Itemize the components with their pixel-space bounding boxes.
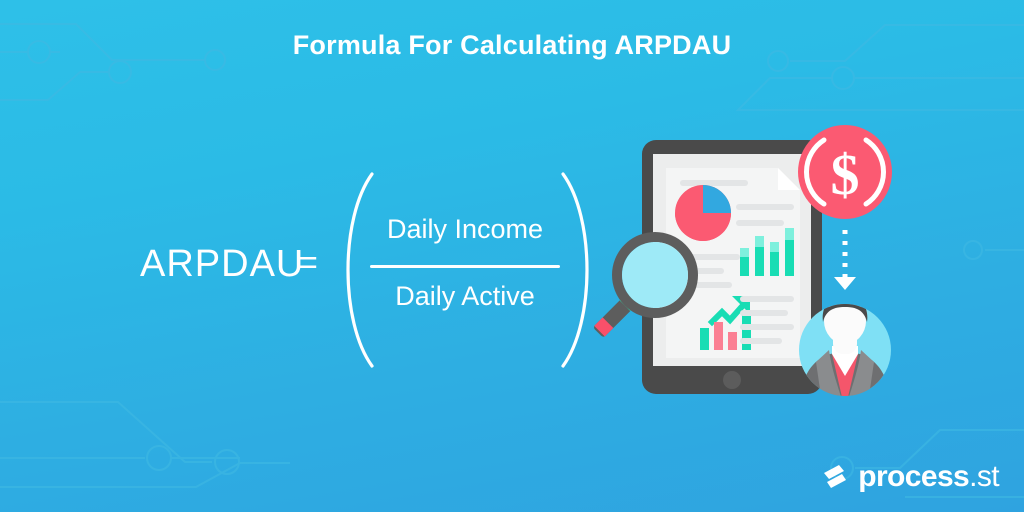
page-title: Formula For Calculating ARPDAU: [0, 30, 1024, 61]
dotted-arrow-icon: [834, 230, 856, 290]
formula-numerator: Daily Income: [360, 214, 570, 245]
pie-chart: [675, 185, 731, 241]
illustration-group: $: [560, 110, 920, 410]
brand-logo-text: process.st: [858, 460, 999, 494]
brand-suffix: .st: [969, 460, 999, 493]
left-parenthesis-icon: [332, 170, 378, 370]
process-st-mark-icon: [819, 462, 849, 492]
brand-name: process: [858, 460, 969, 493]
dollar-coin-icon: $: [798, 125, 892, 219]
brand-logo[interactable]: process.st: [819, 460, 999, 494]
formula-block: ARPDAU = Daily Income Daily Active: [120, 170, 610, 370]
formula-fraction-bar: [370, 265, 560, 268]
formula-denominator: Daily Active: [360, 281, 570, 312]
formula-left-term: ARPDAU: [140, 243, 304, 286]
formula-equals-sign: =: [298, 244, 318, 283]
banner-root: Formula For Calculating ARPDAU ARPDAU = …: [0, 0, 1024, 512]
svg-text:$: $: [831, 142, 860, 207]
